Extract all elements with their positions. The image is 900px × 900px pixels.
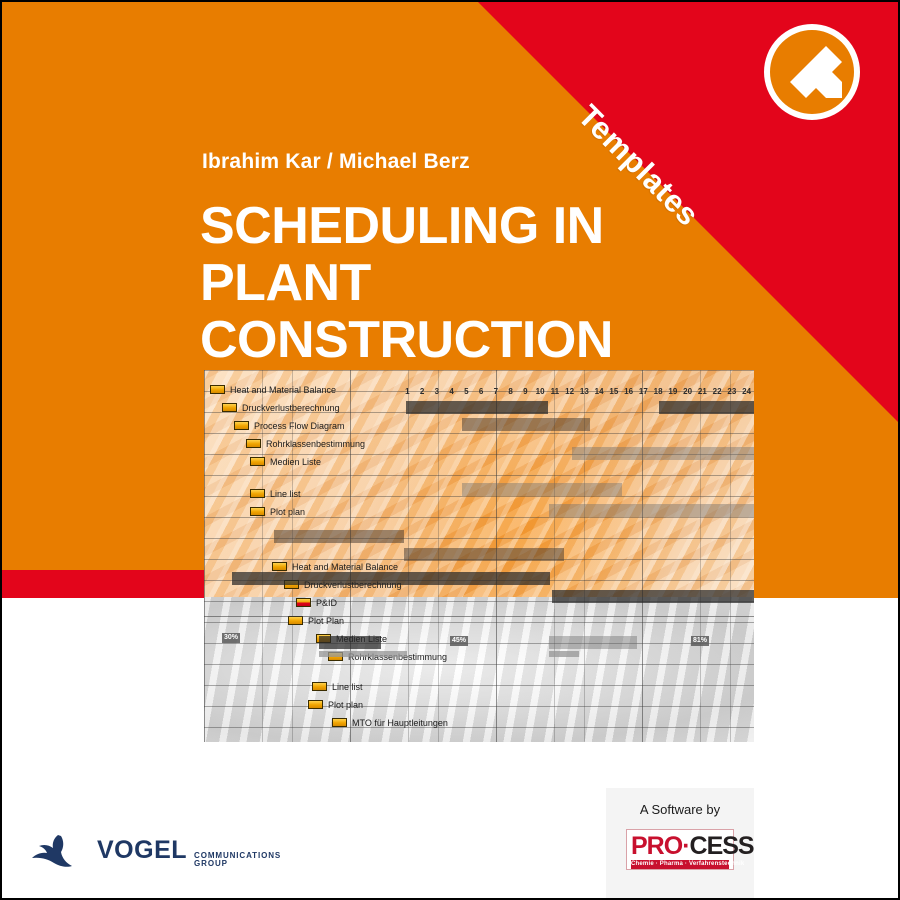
task-label: Plot plan bbox=[270, 507, 305, 517]
gantt-chart-artwork: 1 2 3 4 5 6 7 8 9 10 11 12 13 14 15 16 1… bbox=[204, 370, 754, 742]
gantt-progress-bar bbox=[319, 651, 407, 657]
task-label: Heat and Material Balance bbox=[292, 562, 398, 572]
task-bar-icon bbox=[250, 507, 265, 516]
gantt-task-row: Plot plan bbox=[308, 698, 363, 711]
timeline-tick: 4 bbox=[444, 384, 459, 400]
gantt-task-row: Line list bbox=[250, 487, 301, 500]
gantt-task-row: Process Flow Diagram bbox=[234, 419, 345, 432]
gantt-bar bbox=[319, 636, 381, 649]
gantt-task-row: P&ID bbox=[296, 596, 337, 609]
task-label: Line list bbox=[332, 682, 363, 692]
task-bar-icon bbox=[308, 700, 323, 709]
gantt-bar bbox=[659, 401, 754, 414]
gantt-bar bbox=[232, 572, 550, 585]
timeline-tick: 18 bbox=[651, 384, 666, 400]
task-label: Plot Plan bbox=[308, 616, 344, 626]
timeline-tick: 20 bbox=[680, 384, 695, 400]
timeline-tick: 6 bbox=[474, 384, 489, 400]
gantt-task-row: Medien Liste bbox=[250, 455, 321, 468]
progress-label: 81% bbox=[691, 636, 709, 646]
timeline-tick: 21 bbox=[695, 384, 710, 400]
gantt-bar bbox=[406, 401, 548, 414]
gantt-timeline-header: 1 2 3 4 5 6 7 8 9 10 11 12 13 14 15 16 1… bbox=[400, 384, 754, 400]
timeline-tick: 19 bbox=[666, 384, 681, 400]
timeline-tick: 24 bbox=[739, 384, 754, 400]
timeline-tick: 13 bbox=[577, 384, 592, 400]
task-bar-icon bbox=[296, 598, 311, 607]
task-bar-icon bbox=[222, 403, 237, 412]
task-bar-icon bbox=[272, 562, 287, 571]
process-logo: PRO·CESS Chemie · Pharma · Verfahrenstec… bbox=[626, 829, 734, 870]
timeline-tick: 23 bbox=[725, 384, 740, 400]
gantt-task-row: Heat and Material Balance bbox=[210, 383, 336, 396]
task-label: Process Flow Diagram bbox=[254, 421, 345, 431]
gantt-bar bbox=[549, 504, 754, 517]
gantt-progress-bar bbox=[549, 651, 579, 657]
gantt-bar bbox=[552, 590, 754, 603]
task-bar-icon bbox=[332, 718, 347, 727]
timeline-tick: 8 bbox=[503, 384, 518, 400]
task-bar-icon bbox=[312, 682, 327, 691]
task-label: Line list bbox=[270, 489, 301, 499]
timeline-tick: 22 bbox=[710, 384, 725, 400]
timeline-tick: 10 bbox=[533, 384, 548, 400]
software-by-label: A Software by bbox=[640, 802, 720, 817]
gantt-bar bbox=[462, 483, 622, 496]
timeline-tick: 15 bbox=[607, 384, 622, 400]
task-label: MTO für Hauptleitungen bbox=[352, 718, 448, 728]
red-accent-stripe bbox=[2, 570, 204, 598]
gantt-task-row: MTO für Hauptleitungen bbox=[332, 716, 448, 729]
gantt-task-row: Druckverlustberechnung bbox=[222, 401, 340, 414]
timeline-tick: 1 bbox=[400, 384, 415, 400]
task-bar-icon bbox=[234, 421, 249, 430]
task-bar-icon bbox=[210, 385, 225, 394]
gantt-bar bbox=[274, 530, 404, 543]
bird-icon bbox=[28, 832, 88, 872]
timeline-tick: 5 bbox=[459, 384, 474, 400]
timeline-tick: 7 bbox=[489, 384, 504, 400]
gantt-bar bbox=[462, 418, 590, 431]
book-cover: Ibrahim Kar / Michael Berz SCHEDULING IN… bbox=[0, 0, 900, 900]
vogel-subtitle: COMMUNICATIONS GROUP bbox=[194, 852, 281, 869]
process-dot: · bbox=[682, 832, 689, 860]
timeline-tick: 3 bbox=[430, 384, 445, 400]
gantt-bar bbox=[549, 636, 637, 649]
task-label: Medien Liste bbox=[270, 457, 321, 467]
gantt-task-row: Rohrklassenbestimmung bbox=[246, 437, 365, 450]
gantt-section-divider bbox=[204, 616, 754, 617]
timeline-tick: 11 bbox=[548, 384, 563, 400]
timeline-tick: 12 bbox=[562, 384, 577, 400]
software-by-panel: A Software by PRO·CESS Chemie · Pharma ·… bbox=[606, 788, 754, 900]
vogel-subtitle-line2: GROUP bbox=[194, 860, 281, 868]
timeline-tick: 16 bbox=[621, 384, 636, 400]
task-label: Rohrklassenbestimmung bbox=[266, 439, 365, 449]
task-label: Heat and Material Balance bbox=[230, 385, 336, 395]
timeline-tick: 14 bbox=[592, 384, 607, 400]
task-label: Druckverlustberechnung bbox=[242, 403, 340, 413]
process-wordmark: PRO·CESS bbox=[631, 833, 729, 859]
vogel-wordmark: VOGEL COMMUNICATIONS GROUP bbox=[97, 836, 281, 869]
page-title: SCHEDULING IN PLANT CONSTRUCTION bbox=[200, 198, 760, 370]
gantt-bar bbox=[572, 447, 754, 460]
process-cess: CESS bbox=[690, 832, 754, 860]
gantt-task-row: Line list bbox=[312, 680, 363, 693]
process-pro: PRO bbox=[631, 832, 682, 860]
task-bar-icon bbox=[250, 489, 265, 498]
timeline-tick: 2 bbox=[415, 384, 430, 400]
task-bar-icon bbox=[250, 457, 265, 466]
task-bar-icon bbox=[288, 616, 303, 625]
vogel-name: VOGEL bbox=[97, 836, 187, 865]
task-label: Plot plan bbox=[328, 700, 363, 710]
gantt-task-row: Plot plan bbox=[250, 505, 305, 518]
gantt-bar bbox=[404, 548, 564, 561]
progress-label: 45% bbox=[450, 636, 468, 646]
progress-label: 30% bbox=[222, 633, 240, 643]
timeline-tick: 17 bbox=[636, 384, 651, 400]
task-label: P&ID bbox=[316, 598, 337, 608]
timeline-tick: 9 bbox=[518, 384, 533, 400]
authors-line: Ibrahim Kar / Michael Berz bbox=[202, 150, 470, 174]
task-bar-icon bbox=[246, 439, 261, 448]
process-tagline: Chemie · Pharma · Verfahrenstechnik bbox=[631, 860, 729, 869]
vogel-logo: VOGEL COMMUNICATIONS GROUP bbox=[28, 832, 281, 872]
